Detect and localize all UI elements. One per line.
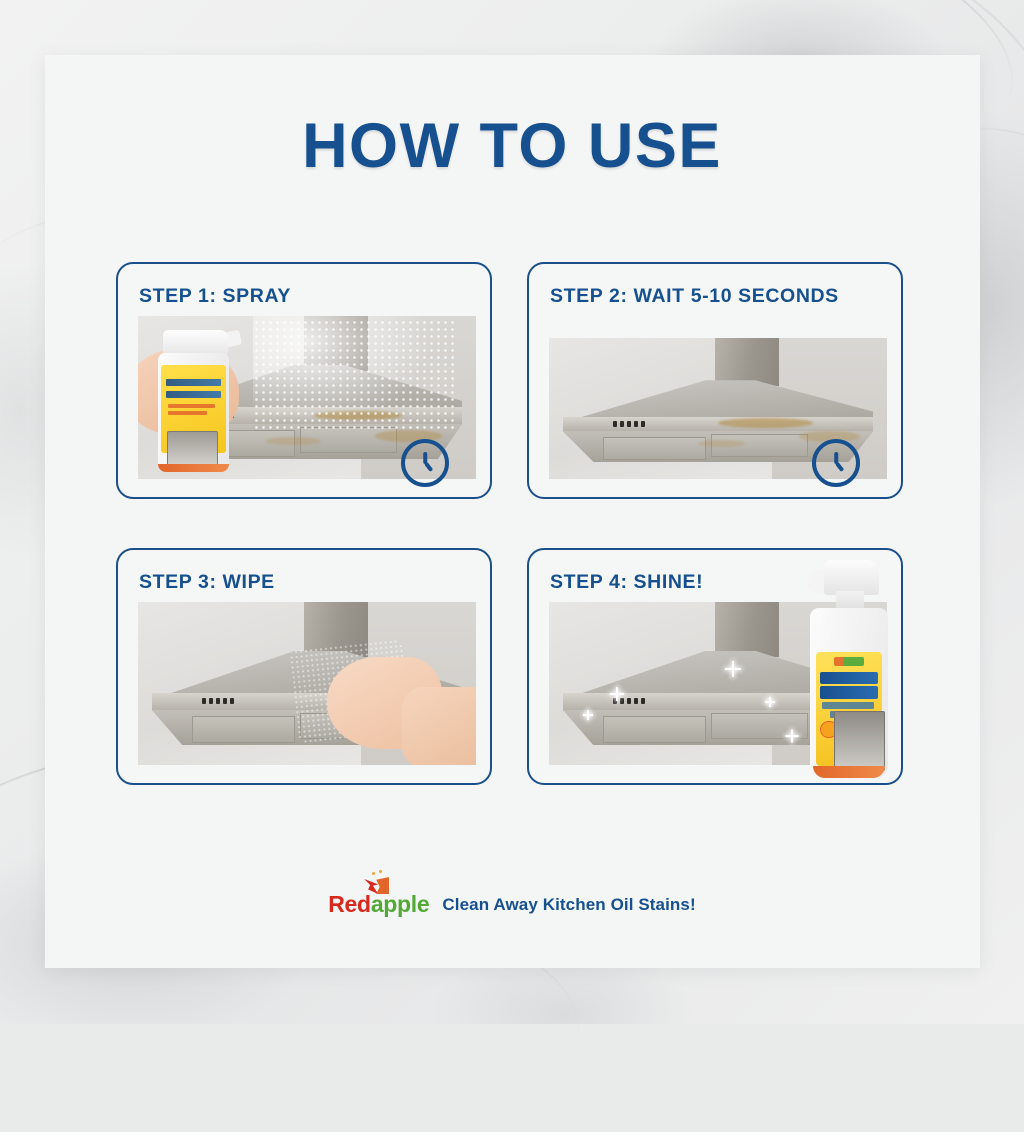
infographic-poster: HOW TO USE STEP 1: SPRAY: [0, 0, 1024, 1024]
hood-knobs: [613, 420, 667, 427]
page-title: HOW TO USE: [0, 110, 1024, 182]
logo-text-apple: apple: [371, 893, 430, 916]
sparkle-icon: [786, 729, 799, 742]
hood-filter: [603, 437, 706, 460]
bottle-body: [158, 353, 229, 472]
clock-minute-hand: [835, 462, 844, 472]
clock-icon: [812, 439, 860, 487]
brand-logo: Red apple: [328, 893, 429, 916]
label-brand-mark: [834, 657, 863, 666]
spray-bottle: [158, 345, 229, 472]
step-3-title: STEP 3: WIPE: [139, 570, 474, 595]
hood-filter: [192, 716, 295, 742]
hood-knobs: [202, 697, 256, 705]
step-card-1: STEP 1: SPRAY: [116, 262, 492, 499]
label-text-line: [166, 391, 221, 398]
sparkle-icon: [610, 687, 624, 701]
forearm: [402, 687, 476, 765]
hood-filter: [603, 716, 706, 742]
clock-icon: [401, 439, 449, 487]
sparkle-icon: [725, 661, 741, 677]
label-text-line: [166, 379, 221, 386]
step-1-title: STEP 1: SPRAY: [139, 284, 474, 309]
footer-tagline: Clean Away Kitchen Oil Stains!: [442, 895, 695, 915]
label-accent-line: [168, 411, 207, 415]
bottle-cap: [163, 330, 228, 355]
step-card-3: STEP 3: WIPE: [116, 548, 492, 785]
logo-text-red: Red: [328, 893, 371, 916]
grease-stain: [698, 440, 745, 447]
label-line-clean-spray: [820, 686, 878, 699]
clock-minute-hand: [424, 462, 433, 472]
label-line-greasy-dirt: [820, 672, 878, 685]
poster-sheet: [45, 55, 980, 968]
label-accent-line: [168, 404, 215, 408]
bottle-base: [813, 766, 884, 778]
bottle-base: [158, 464, 229, 472]
spray-droplets: [253, 319, 456, 433]
label-product-image: [834, 711, 885, 771]
step-card-4: STEP 4: SHINE!: [527, 548, 903, 785]
product-bottle: [807, 560, 891, 778]
step-3-photo: [138, 602, 476, 765]
hood-duct: [715, 338, 779, 386]
sparkle-icon: [765, 697, 775, 707]
label-subtext-line: [822, 702, 874, 708]
step-2-title: STEP 2: WAIT 5-10 SECONDS: [550, 284, 885, 309]
sparkle-icon: [583, 710, 593, 720]
apple-leaf-icon: [364, 873, 390, 895]
range-hood-scene: [138, 602, 476, 765]
step-card-2: STEP 2: WAIT 5-10 SECONDS: [527, 262, 903, 499]
hood-duct: [715, 602, 779, 657]
bottle-body: [810, 608, 887, 778]
grease-stain: [266, 437, 320, 445]
footer: Red apple Clean Away Kitchen Oil Stains!: [0, 893, 1024, 916]
